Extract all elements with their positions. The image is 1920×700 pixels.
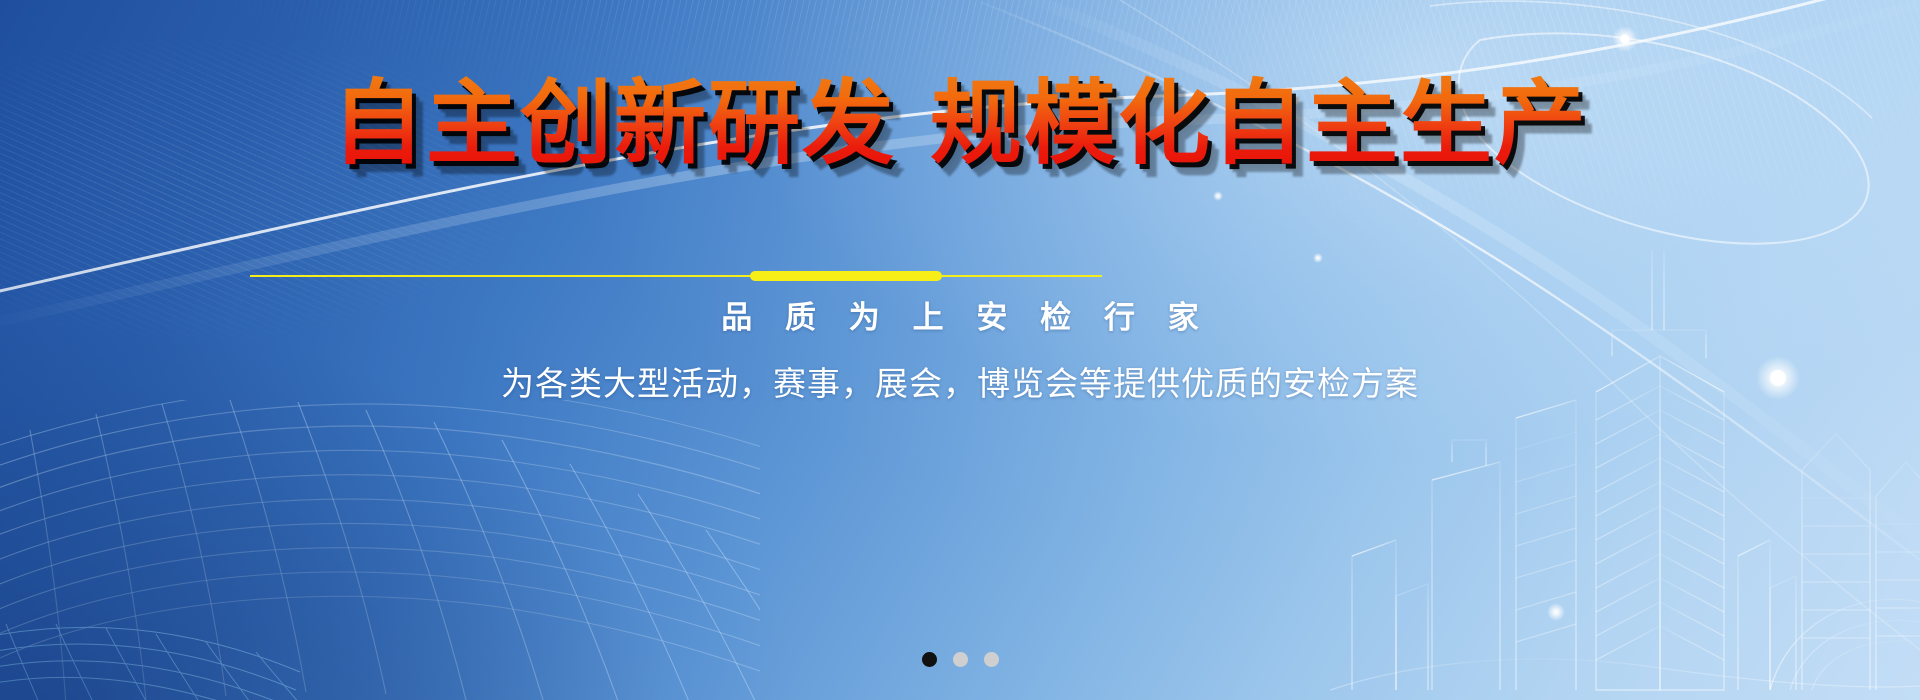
- headline-container: 自主创新研发 规模化自主生产: [0, 74, 1920, 173]
- carousel-dot-2[interactable]: [953, 652, 968, 667]
- carousel-dot-1[interactable]: [922, 652, 937, 667]
- subtitle-container: 品 质 为 上 安 检 行 家 为各类大型活动，赛事，展会，博览会等提供优质的安…: [0, 300, 1920, 404]
- divider-line: [250, 275, 1102, 277]
- divider-highlight-bar: [750, 271, 942, 281]
- hero-banner: 自主创新研发 规模化自主生产 品 质 为 上 安 检 行 家 为各类大型活动，赛…: [0, 0, 1920, 700]
- page-title: 自主创新研发 规模化自主生产: [332, 74, 1588, 173]
- subtitle-primary: 品 质 为 上 安 检 行 家: [0, 300, 1920, 337]
- subtitle-secondary: 为各类大型活动，赛事，展会，博览会等提供优质的安检方案: [0, 363, 1920, 404]
- carousel-dots[interactable]: [0, 652, 1920, 667]
- carousel-dot-3[interactable]: [984, 652, 999, 667]
- divider: [250, 268, 1102, 284]
